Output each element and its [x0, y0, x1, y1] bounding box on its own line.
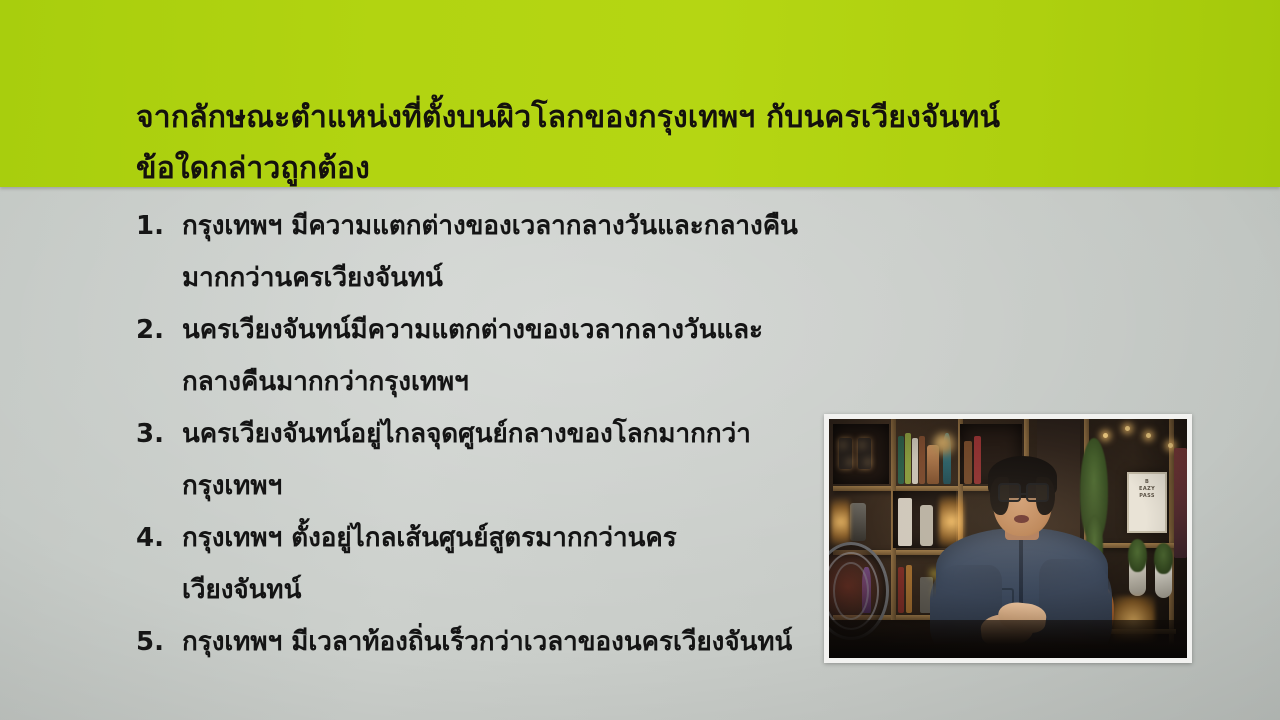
studio-desk [829, 620, 1187, 658]
answer-choice-2-line-1: นครเวียงจันทน์มีความแตกต่างของเวลากลางวั… [182, 304, 1166, 356]
sign-line-3: PASS [1139, 493, 1155, 499]
glasses-right-lens [1026, 483, 1049, 503]
answer-choice-2-number: 2. [136, 304, 182, 356]
answer-choice-1-number: 1. [136, 200, 182, 252]
answer-choice-2[interactable]: 2. นครเวียงจันทน์มีความแตกต่างของเวลากลา… [136, 304, 1166, 408]
answer-choice-3-number: 3. [136, 408, 182, 460]
answer-choice-2-line-2: กลางคืนมากกว่ากรุงเทพฯ [182, 356, 1166, 408]
answer-choice-5-number: 5. [136, 616, 182, 668]
glasses-bridge [1017, 493, 1026, 495]
presenter-video-overlay[interactable]: B EAZY PASS [824, 414, 1192, 663]
string-light [1125, 426, 1130, 431]
question-heading-line-2: ข้อใดกล่าวถูกต้อง [136, 143, 1136, 194]
question-heading-line-1: จากลักษณะตำแหน่งที่ตั้งบนผิวโลกของกรุงเท… [136, 92, 1136, 143]
answer-choice-1-text: กรุงเทพฯ มีความแตกต่างของเวลากลางวันและก… [182, 200, 1166, 304]
answer-choice-1-line-2: มากกว่านครเวียงจันทน์ [182, 252, 1166, 304]
eazy-pass-sign-text: B EAZY PASS [1129, 474, 1166, 500]
answer-choice-2-text: นครเวียงจันทน์มีความแตกต่างของเวลากลางวั… [182, 304, 1166, 408]
string-light [1146, 433, 1151, 438]
sign-line-2: EAZY [1139, 486, 1155, 492]
answer-choice-4-number: 4. [136, 512, 182, 564]
eazy-pass-sign: B EAZY PASS [1127, 472, 1168, 533]
string-light [1103, 433, 1108, 438]
presenter-video-frame: B EAZY PASS [829, 419, 1187, 658]
question-heading: จากลักษณะตำแหน่งที่ตั้งบนผิวโลกของกรุงเท… [136, 92, 1136, 194]
string-light [1168, 443, 1173, 448]
presentation-slide: จากลักษณะตำแหน่งที่ตั้งบนผิวโลกของกรุงเท… [0, 0, 1280, 720]
answer-choice-1-line-1: กรุงเทพฯ มีความแตกต่างของเวลากลางวันและก… [182, 200, 1166, 252]
answer-choice-1[interactable]: 1. กรุงเทพฯ มีความแตกต่างของเวลากลางวันแ… [136, 200, 1166, 304]
sign-line-1: B [1145, 479, 1149, 485]
